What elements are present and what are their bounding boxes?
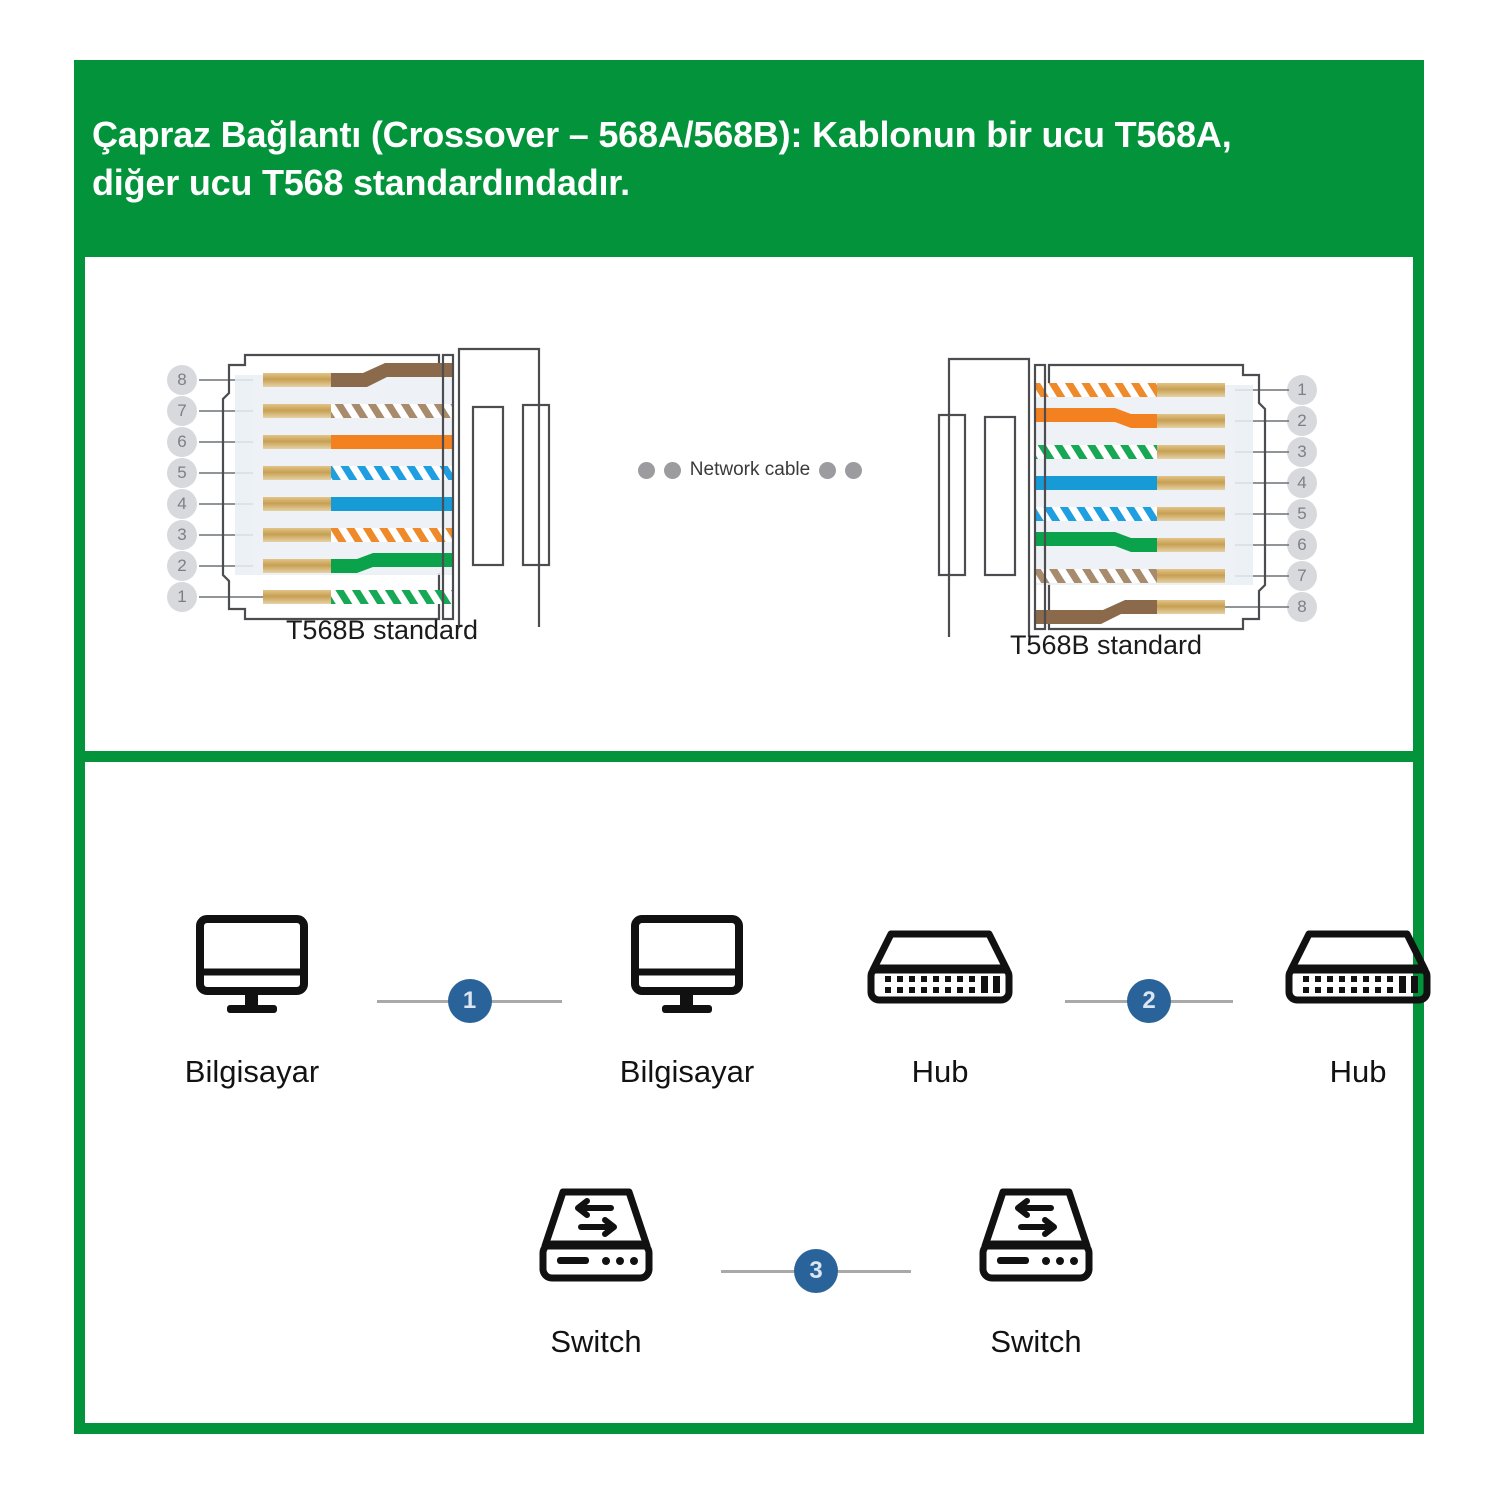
hub-icon: [1283, 912, 1433, 1020]
network-cable-label: Network cable: [605, 453, 895, 487]
link-badge[interactable]: 3: [794, 1249, 838, 1293]
device-label: Bilgisayar: [185, 1054, 319, 1090]
plug-boot-right: [939, 359, 1045, 637]
device-label: Switch: [990, 1324, 1081, 1360]
connector-caption-right: T568B standard: [891, 630, 1321, 661]
link-hubs: 2: [1065, 947, 1233, 1055]
device-label: Switch: [550, 1324, 641, 1360]
device-label: Hub: [1330, 1054, 1387, 1090]
device-pairs-panel: Bilgisayar 1 Bilgisayar: [85, 762, 1413, 1423]
link-switches: 3: [721, 1217, 911, 1325]
cable-dot-icon: [664, 462, 681, 479]
wiring-diagram-panel: 8 7 6 5 4 3 2 1: [85, 257, 1413, 751]
panel-divider: [74, 751, 1424, 762]
header-banner: Çapraz Bağlantı (Crossover – 568A/568B):…: [74, 60, 1424, 257]
device-pair: Hub 2: [815, 912, 1483, 1090]
hub-icon: [865, 912, 1015, 1020]
device-switch-left: Switch: [471, 1182, 721, 1360]
link-badge[interactable]: 2: [1127, 979, 1171, 1023]
rj45-plug-right: [891, 357, 1321, 677]
switch-icon: [535, 1182, 657, 1290]
connector-left: 8 7 6 5 4 3 2 1: [167, 347, 597, 677]
cable-dot-icon: [638, 462, 655, 479]
device-computer-right: Bilgisayar: [562, 912, 812, 1090]
device-label: Hub: [912, 1054, 969, 1090]
monitor-icon: [193, 912, 311, 1020]
cable-dot-icon: [845, 462, 862, 479]
device-computer-left: Bilgisayar: [127, 912, 377, 1090]
monitor-icon: [628, 912, 746, 1020]
device-row-hubs: Hub 2: [815, 912, 1483, 1090]
cable-dot-icon: [819, 462, 836, 479]
device-pair: Bilgisayar 1 Bilgisayar: [127, 912, 812, 1090]
connector-caption-left: T568B standard: [167, 615, 597, 646]
page-root: Çapraz Bağlantı (Crossover – 568A/568B):…: [0, 0, 1500, 1500]
rj45-plug-right-svg: [891, 357, 1321, 637]
page-title: Çapraz Bağlantı (Crossover – 568A/568B):…: [74, 111, 1268, 207]
link-badge[interactable]: 1: [448, 979, 492, 1023]
device-label: Bilgisayar: [620, 1054, 754, 1090]
device-hub-left: Hub: [815, 912, 1065, 1090]
connector-right: 1 2 3 4 5 6 7 8: [891, 347, 1321, 677]
rj45-plug-left-svg: [167, 347, 597, 627]
switch-icon: [975, 1182, 1097, 1290]
device-hub-right: Hub: [1233, 912, 1483, 1090]
device-row-switches: Switch 3: [471, 1182, 1161, 1360]
device-switch-right: Switch: [911, 1182, 1161, 1360]
plug-boot-left: [443, 349, 549, 627]
device-row-computers: Bilgisayar 1 Bilgisayar: [127, 912, 812, 1090]
device-pair: Switch 3: [471, 1182, 1161, 1360]
network-cable-text: Network cable: [690, 459, 810, 481]
link-computers: 1: [377, 947, 562, 1055]
